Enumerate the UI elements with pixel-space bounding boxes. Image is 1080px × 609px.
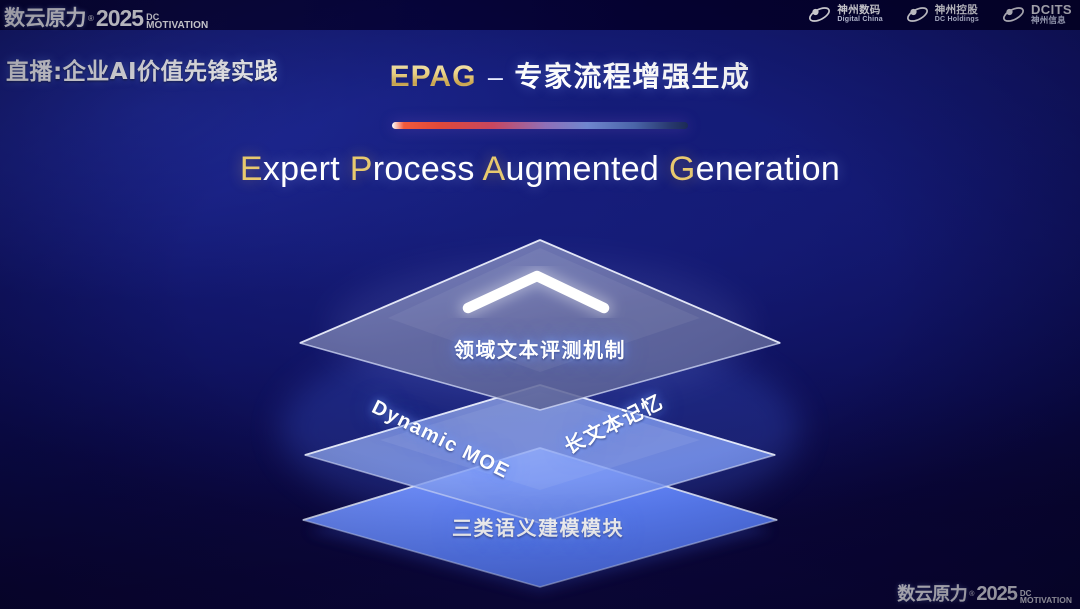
watermark-cn: 数云原力	[897, 580, 967, 606]
partner-logo-row: 神州数码 Digital China 神州控股 DC Holdings	[807, 3, 1072, 26]
layer-label-middle-right: 长文本记忆	[559, 386, 668, 460]
watermark-year: 2025	[976, 583, 1017, 606]
subtitle-english: Expert Process Augmented Generation	[0, 150, 1080, 189]
event-logo: 数云原力 ® 2025 DC MOTIVATION	[4, 2, 208, 32]
subtitle-text: xpert	[263, 150, 350, 188]
event-logo-dcmotivation: DC MOTIVATION	[146, 13, 208, 30]
layer-label-middle-left: Dynamic MOE	[368, 396, 513, 484]
title-dash: –	[488, 62, 503, 92]
watermark-motivation: MOTIVATION	[1020, 597, 1072, 605]
event-logo-year: 2025	[96, 5, 143, 32]
title-chinese: 专家流程增强生成	[514, 60, 750, 93]
partner-name-cn: 神州数码	[837, 5, 882, 16]
slide-canvas: 数云原力 ® 2025 DC MOTIVATION 直播:企业AI价值先锋实践 …	[0, 0, 1080, 609]
partner-logo-digital-china: 神州数码 Digital China	[807, 3, 882, 26]
subtitle-accent-letter: A	[483, 150, 506, 188]
title-acronym: EPAG	[390, 60, 477, 93]
layer-middle-plate	[305, 385, 775, 523]
registered-mark: ®	[88, 14, 94, 23]
registered-mark: ®	[969, 591, 974, 598]
partner-name-en: DCITS	[1031, 3, 1072, 17]
swirl-logo-icon	[905, 3, 930, 26]
partner-name-en: DC Holdings	[935, 16, 979, 23]
gradient-divider	[392, 122, 688, 129]
layer-bottom-plate	[303, 448, 777, 587]
event-logo-motivation: MOTIVATION	[146, 21, 208, 30]
partner-name-en: Digital China	[837, 16, 882, 23]
swirl-logo-icon	[1001, 3, 1026, 26]
chevron-up-icon	[468, 276, 604, 308]
subtitle-text: ugmented	[506, 150, 669, 188]
layer-label-top: 领域文本评测机制	[0, 334, 1080, 363]
page-title: EPAG – 专家流程增强生成	[0, 55, 1080, 95]
watermark-dcmotivation: DC MOTIVATION	[1020, 590, 1072, 605]
subtitle-text: eneration	[696, 150, 840, 188]
swirl-logo-icon	[807, 3, 832, 26]
subtitle-accent-letter: E	[240, 150, 263, 188]
footer-watermark-logo: 数云原力 ® 2025 DC MOTIVATION	[897, 580, 1072, 606]
subtitle-text: rocess	[373, 150, 483, 188]
subtitle-accent-letter: P	[350, 150, 373, 188]
partner-logo-dcits: DCITS 神州信息	[1001, 3, 1072, 26]
layer-top-plate	[300, 240, 780, 410]
subtitle-accent-letter: G	[669, 150, 696, 188]
event-logo-cn: 数云原力	[4, 2, 86, 32]
partner-logo-dc-holdings: 神州控股 DC Holdings	[905, 3, 979, 26]
partner-name-cn: 神州信息	[1031, 17, 1072, 26]
partner-name-cn: 神州控股	[935, 5, 979, 16]
layer-label-bottom: 三类语义建模模块	[0, 512, 1080, 541]
